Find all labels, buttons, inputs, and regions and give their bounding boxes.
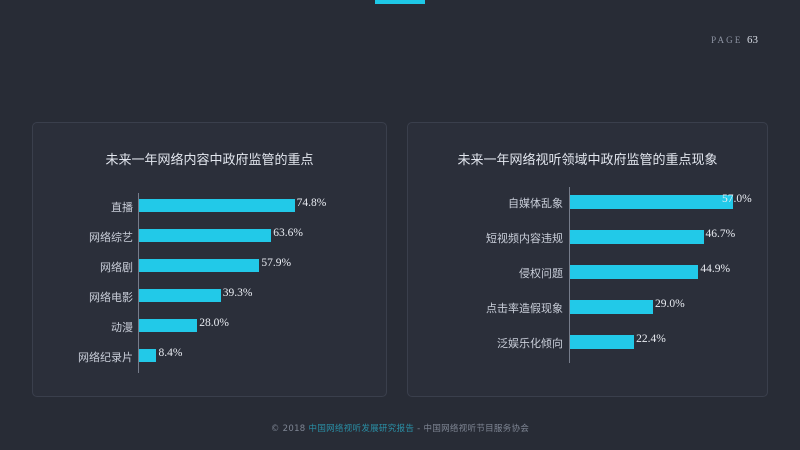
bar-fill <box>139 199 295 212</box>
bar-chart-left: 直播74.8%网络综艺63.6%网络剧57.9%网络电影39.3%动漫28.0%… <box>33 191 386 371</box>
top-accent-bar <box>375 0 425 4</box>
bar-track <box>570 300 653 314</box>
bar-track <box>139 229 271 242</box>
bar-row: 点击率造假现象29.0% <box>408 290 767 325</box>
bar-row: 短视频内容违规46.7% <box>408 220 767 255</box>
bar-category-label: 泛娱乐化倾向 <box>408 335 563 351</box>
footer: © 2018 中国网络视听发展研究报告 - 中国网络视听节目服务协会 <box>0 422 800 434</box>
bar-value-label: 46.7% <box>706 228 736 240</box>
bar-value-label: 29.0% <box>655 298 685 310</box>
bar-track <box>570 230 704 244</box>
bar-row: 网络综艺63.6% <box>33 221 386 251</box>
bar-track <box>570 195 733 209</box>
bar-value-label: 28.0% <box>199 317 229 329</box>
bar-track <box>139 259 259 272</box>
chart-title-left: 未来一年网络内容中政府监管的重点 <box>51 151 368 170</box>
chart-title-right: 未来一年网络视听领域中政府监管的重点现象 <box>426 151 749 170</box>
bar-category-label: 动漫 <box>33 319 133 335</box>
bar-fill <box>139 229 271 242</box>
bar-row: 直播74.8% <box>33 191 386 221</box>
bar-category-label: 网络电影 <box>33 289 133 305</box>
page-number-value: 63 <box>747 34 758 46</box>
bar-category-label: 直播 <box>33 199 133 215</box>
bar-fill <box>570 300 653 314</box>
bar-track <box>570 265 698 279</box>
footer-report-name: 中国网络视听发展研究报告 <box>309 424 415 434</box>
bar-track <box>570 335 634 349</box>
bar-value-label: 63.6% <box>273 227 303 239</box>
bar-row: 动漫28.0% <box>33 311 386 341</box>
footer-separator: - <box>417 424 420 434</box>
bar-track <box>139 319 197 332</box>
bar-value-label: 44.9% <box>700 263 730 275</box>
bar-category-label: 点击率造假现象 <box>408 300 563 316</box>
bar-category-label: 网络纪录片 <box>33 349 133 365</box>
bar-fill <box>139 349 156 362</box>
bar-category-label: 自媒体乱象 <box>408 195 563 211</box>
bar-category-label: 网络剧 <box>33 259 133 275</box>
bar-track <box>139 289 221 302</box>
bar-fill <box>139 289 221 302</box>
bar-chart-right: 自媒体乱象57.0%短视频内容违规46.7%侵权问题44.9%点击率造假现象29… <box>408 185 767 360</box>
bar-value-label: 74.8% <box>297 197 327 209</box>
page-label: PAGE <box>711 35 742 45</box>
bar-track <box>139 349 156 362</box>
chart-panel-right: 未来一年网络视听领域中政府监管的重点现象 自媒体乱象57.0%短视频内容违规46… <box>407 122 768 397</box>
chart-panel-left: 未来一年网络内容中政府监管的重点 直播74.8%网络综艺63.6%网络剧57.9… <box>32 122 387 397</box>
footer-copyright: © 2018 <box>271 424 306 434</box>
footer-organization: 中国网络视听节目服务协会 <box>424 424 530 434</box>
bar-track <box>139 199 295 212</box>
bar-fill <box>570 335 634 349</box>
page-number: PAGE 63 <box>711 34 758 46</box>
bar-row: 自媒体乱象57.0% <box>408 185 767 220</box>
bar-category-label: 侵权问题 <box>408 265 563 281</box>
bar-row: 侵权问题44.9% <box>408 255 767 290</box>
bar-row: 网络剧57.9% <box>33 251 386 281</box>
bar-row: 泛娱乐化倾向22.4% <box>408 325 767 360</box>
bar-fill <box>570 230 704 244</box>
bar-value-label: 57.9% <box>261 257 291 269</box>
bar-row: 网络纪录片8.4% <box>33 341 386 371</box>
bar-row: 网络电影39.3% <box>33 281 386 311</box>
bar-fill <box>139 319 197 332</box>
bar-fill <box>570 195 733 209</box>
bar-value-label: 39.3% <box>223 287 253 299</box>
bar-value-label: 57.0% <box>722 193 752 205</box>
bar-fill <box>139 259 259 272</box>
bar-category-label: 网络综艺 <box>33 229 133 245</box>
bar-fill <box>570 265 698 279</box>
bar-category-label: 短视频内容违规 <box>408 230 563 246</box>
bar-value-label: 8.4% <box>158 347 182 359</box>
bar-value-label: 22.4% <box>636 333 666 345</box>
